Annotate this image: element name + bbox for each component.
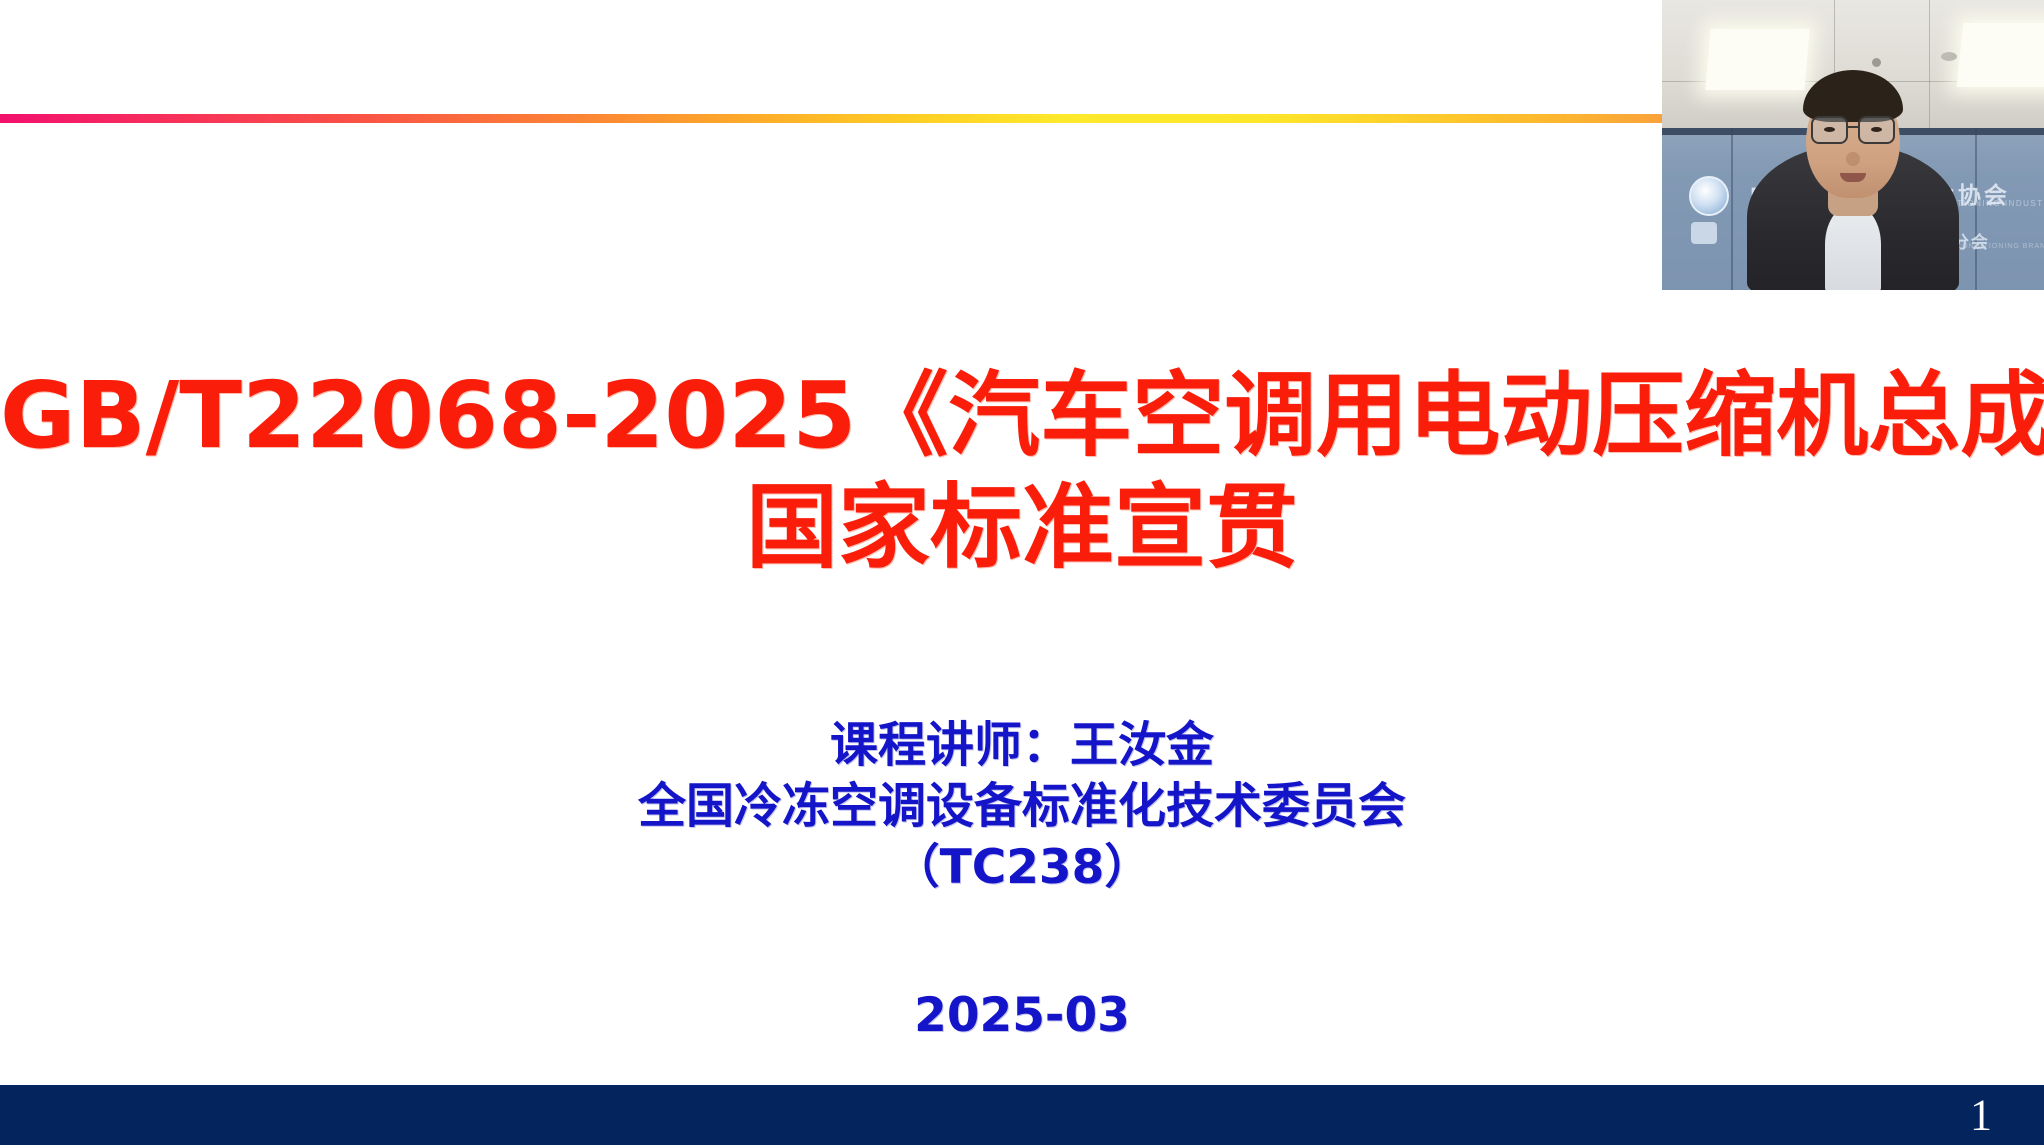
page-number: 1 [1970,1090,1992,1141]
slide-footer-bar: 1 [0,1085,2044,1145]
presentation-slide: 中国制冷空调工业协会 CHINA REFRIGERATION AND AIR-C… [0,0,2044,1145]
slide-title: GB/T22068-2025《汽车空调用电动压缩机总成》 国家标准宣贯 [0,360,2044,584]
presenter-video-overlay[interactable]: 中国制冷空调工业协会 CHINA REFRIGERATION AND AIR-C… [1662,0,2044,290]
ceiling-lamp-icon [1705,29,1810,90]
subtitle-organization: 全国冷冻空调设备标准化技术委员会 [0,776,2044,837]
association-logo-icon [1689,176,1729,216]
glasses-lens-left [1811,116,1848,144]
slide-date: 2025-03 [0,988,2044,1043]
subtitle-committee-code: （TC238） [0,838,2044,898]
presenter-eye-left [1824,127,1835,132]
ceiling-lamp-icon [1957,23,2044,87]
title-line-2: 国家标准宣贯 [0,472,2044,584]
presenter-glasses-icon [1811,116,1895,142]
subtitle-lecturer: 课程讲师：王汝金 [0,715,2044,776]
presenter-nose [1846,152,1860,166]
presenter-eye-right [1871,127,1882,132]
glasses-lens-right [1858,116,1895,144]
association-sublogo-icon [1691,222,1717,244]
slide-subtitle: 课程讲师：王汝金 全国冷冻空调设备标准化技术委员会 （TC238） [0,715,2044,898]
banner-seam [1731,128,1733,290]
presenter-shirt [1825,206,1881,290]
title-line-1: GB/T22068-2025《汽车空调用电动压缩机总成》 [0,360,2044,472]
header-gradient-rule [0,114,1662,123]
ceiling-tile-line [1929,0,1930,133]
